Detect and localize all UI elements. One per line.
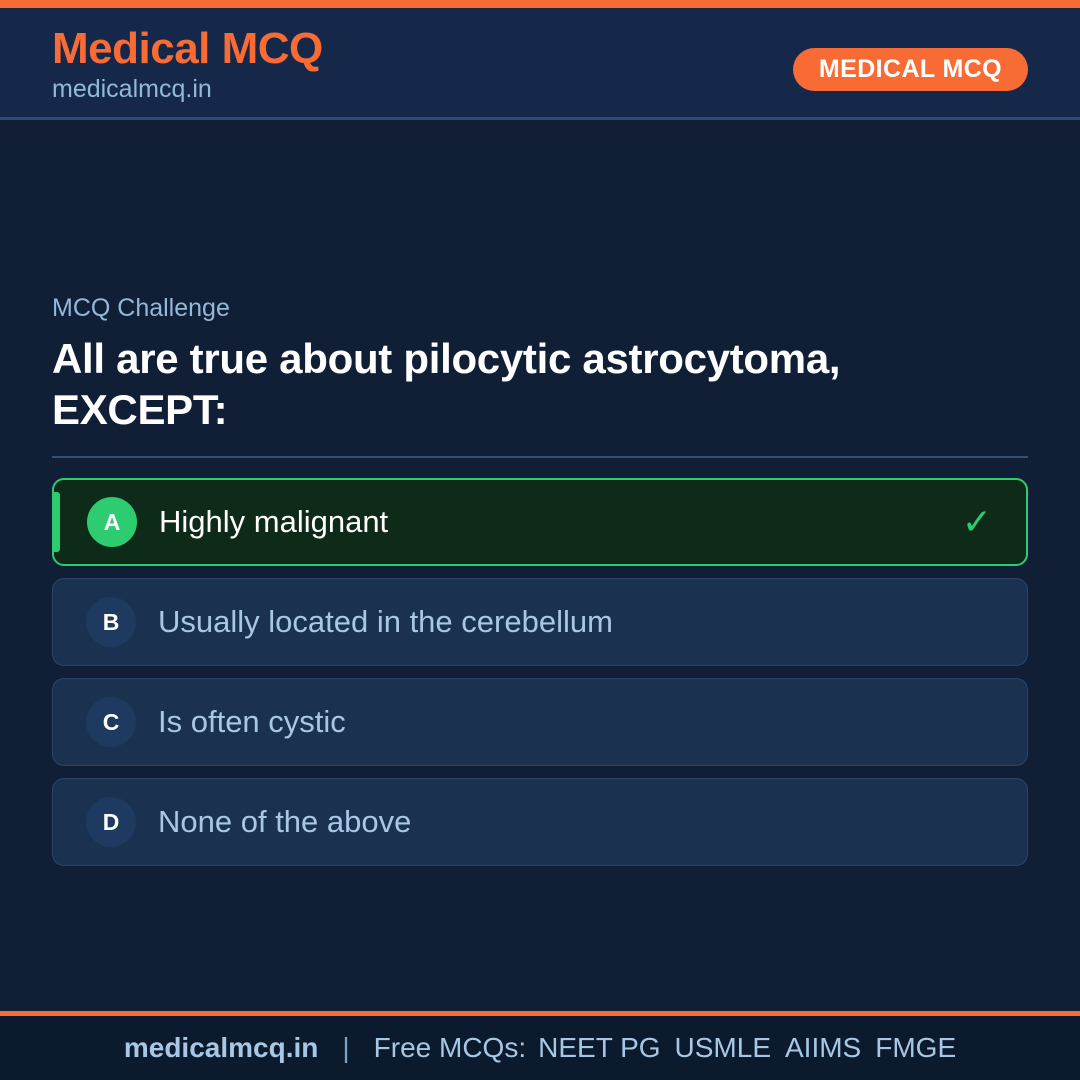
option-c-text: Is often cystic — [158, 705, 1027, 739]
page-header: Medical MCQ medicalmcq.in MEDICAL MCQ — [0, 8, 1080, 120]
footer-label: Free MCQs: — [374, 1032, 526, 1064]
option-d-letter-badge: D — [86, 797, 136, 847]
option-b-text: Usually located in the cerebellum — [158, 605, 1027, 639]
check-icon: ✓ — [962, 504, 992, 540]
option-c[interactable]: C Is often cystic — [52, 678, 1028, 766]
header-badge[interactable]: MEDICAL MCQ — [793, 48, 1028, 91]
brand-subtitle: medicalmcq.in — [52, 75, 323, 104]
option-d-text: None of the above — [158, 805, 1027, 839]
option-a[interactable]: A Highly malignant ✓ — [52, 478, 1028, 566]
main-content: MCQ Challenge All are true about pilocyt… — [0, 123, 1080, 1008]
top-accent-bar — [0, 0, 1080, 8]
footer-site-link[interactable]: medicalmcq.in — [124, 1032, 319, 1064]
brand-block: Medical MCQ medicalmcq.in — [52, 24, 323, 104]
question-eyebrow: MCQ Challenge — [52, 293, 1028, 323]
footer-exam-neetpg[interactable]: NEET PG — [538, 1032, 660, 1064]
options-list: A Highly malignant ✓ B Usually located i… — [52, 478, 1028, 866]
option-a-letter-badge: A — [87, 497, 137, 547]
footer-exam-aiims[interactable]: AIIMS — [785, 1032, 861, 1064]
brand-title: Medical MCQ — [52, 24, 323, 73]
option-c-letter-badge: C — [86, 697, 136, 747]
option-b[interactable]: B Usually located in the cerebellum — [52, 578, 1028, 666]
question-divider — [52, 456, 1028, 458]
page-footer: medicalmcq.in | Free MCQs: NEET PG USMLE… — [0, 1016, 1080, 1080]
footer-separator: | — [342, 1032, 349, 1064]
footer-exam-usmle[interactable]: USMLE — [675, 1032, 771, 1064]
header-badge-label: MEDICAL MCQ — [819, 55, 1002, 84]
option-b-letter-badge: B — [86, 597, 136, 647]
footer-exam-fmge[interactable]: FMGE — [875, 1032, 956, 1064]
question-text: All are true about pilocytic astrocytoma… — [52, 333, 862, 435]
question-block: MCQ Challenge All are true about pilocyt… — [52, 293, 1028, 435]
option-a-text: Highly malignant — [159, 505, 962, 539]
option-d[interactable]: D None of the above — [52, 778, 1028, 866]
correct-accent-bar — [54, 492, 60, 552]
footer-inner: medicalmcq.in | Free MCQs: NEET PG USMLE… — [124, 1032, 956, 1064]
